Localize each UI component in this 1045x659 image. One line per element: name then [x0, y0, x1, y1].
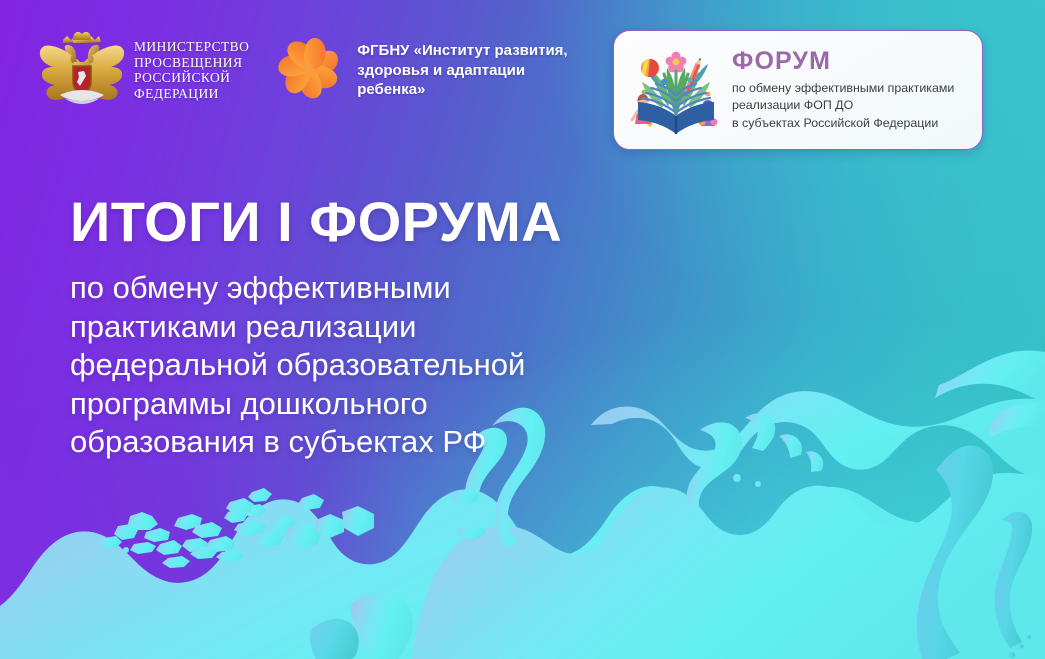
ministry-name: МИНИСТЕРСТВО ПРОСВЕЩЕНИЯ РОССИЙСКОЙ ФЕДЕ…: [134, 39, 249, 101]
open-book-with-plants-icon: [628, 42, 724, 138]
russian-coat-of-arms-icon: [36, 32, 128, 110]
forum-badge-title: ФОРУМ: [732, 48, 968, 74]
forum-badge-description: по обмену эффективными практиками реализ…: [732, 80, 968, 133]
forum-badge-copy: ФОРУМ по обмену эффективными практиками …: [732, 48, 968, 133]
institute-name: ФГБНУ «Институт развития, здоровья и ада…: [357, 41, 567, 100]
brand-row: МИНИСТЕРСТВО ПРОСВЕЩЕНИЯ РОССИЙСКОЙ ФЕДЕ…: [36, 30, 568, 110]
forum-badge: ФОРУМ по обмену эффективными практиками …: [613, 30, 983, 150]
poster-header: МИНИСТЕРСТВО ПРОСВЕЩЕНИЯ РОССИЙСКОЙ ФЕДЕ…: [0, 0, 1045, 160]
page-title: ИТОГИ I ФОРУМА: [70, 192, 562, 252]
institute-block: ФГБНУ «Институт развития, здоровья и ада…: [273, 32, 567, 104]
forum-results-poster: МИНИСТЕРСТВО ПРОСВЕЩЕНИЯ РОССИЙСКОЙ ФЕДЕ…: [0, 0, 1045, 659]
orange-pinwheel-flower-icon: [273, 32, 345, 104]
page-subtitle: по обмену эффективными практиками реализ…: [70, 269, 525, 462]
